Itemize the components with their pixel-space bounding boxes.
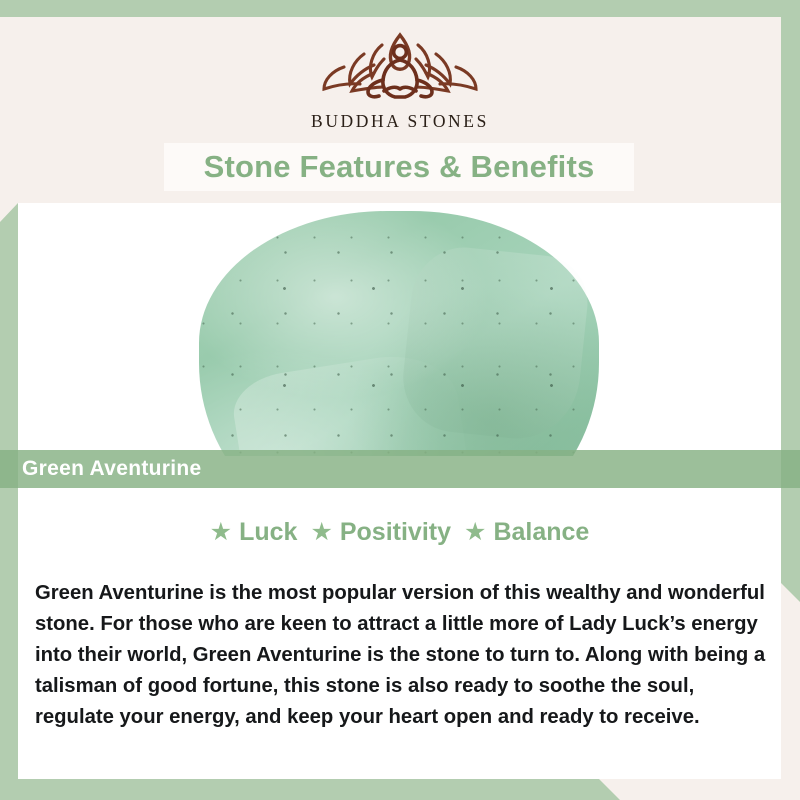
benefit-label: Luck xyxy=(239,518,297,547)
stone-name-bar: Green Aventurine xyxy=(0,450,800,488)
benefit-item-luck: ★ Luck xyxy=(210,518,298,547)
title-banner: Stone Features & Benefits xyxy=(164,143,634,191)
lotus-meditation-logo-icon xyxy=(314,23,486,109)
page-title: Stone Features & Benefits xyxy=(204,149,595,185)
stone-name: Green Aventurine xyxy=(22,457,201,481)
stone-speckles xyxy=(199,211,599,456)
benefit-label: Balance xyxy=(493,518,589,547)
benefit-item-positivity: ★ Positivity xyxy=(310,518,451,547)
star-icon: ★ xyxy=(210,520,232,545)
stone-image xyxy=(199,211,599,456)
frame-left-band xyxy=(0,203,18,779)
star-icon: ★ xyxy=(464,520,486,545)
brand-name: BUDDHA STONES xyxy=(311,111,489,132)
frame-top-band xyxy=(0,0,800,17)
frame-bottom-band xyxy=(0,778,620,800)
brand-header: BUDDHA STONES xyxy=(0,17,800,143)
benefits-row: ★ Luck ★ Positivity ★ Balance xyxy=(18,518,781,547)
stone-photo xyxy=(18,203,781,456)
benefit-label: Positivity xyxy=(340,518,451,547)
star-icon: ★ xyxy=(310,520,332,545)
benefit-item-balance: ★ Balance xyxy=(464,518,589,547)
poster-root: BUDDHA STONES Stone Features & Benefits … xyxy=(0,0,800,800)
stone-description: Green Aventurine is the most popular ver… xyxy=(35,578,768,733)
